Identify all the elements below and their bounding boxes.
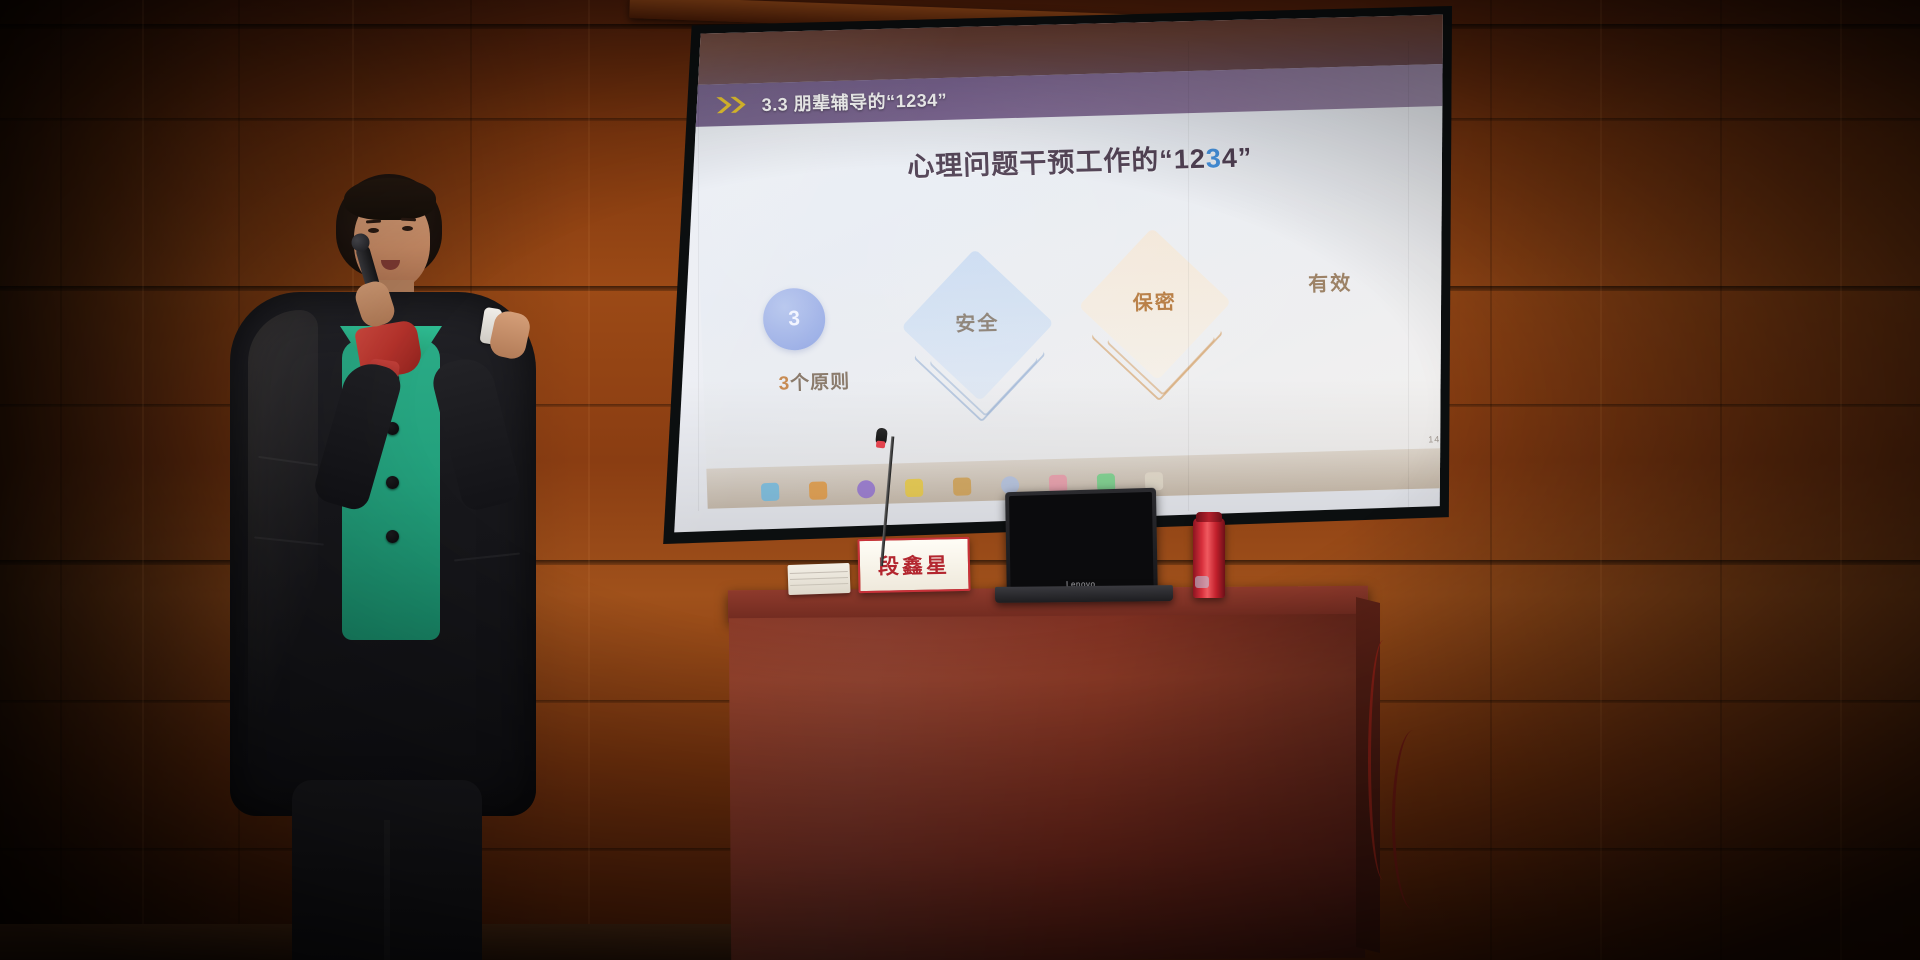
app-icon-3[interactable] [857,480,876,498]
slide-item-safety: 安全 [922,270,1034,381]
wall-grain [1600,0,1602,960]
slide-item-label-safety: 安全 [923,306,1032,338]
speaker-person [218,160,548,960]
thermos-label-band [1195,576,1209,588]
double-chevron-right-icon [715,94,750,115]
wall-grain [1490,0,1492,960]
paper-stack [787,563,850,595]
principles-word: 个原则 [790,372,851,395]
slide-item-label-effectiveness: 有效 [1276,266,1385,298]
number-badge-value: 3 [788,307,801,331]
speaker-name-card: 段鑫星 [857,537,970,593]
wall-grain [60,0,62,960]
speaker-eye-left [368,228,379,233]
red-thermos-bottle [1193,518,1225,598]
slide-title-suffix: 4” [1221,142,1253,173]
slide-viewport: 3.3 朋辈辅导的“1234” 心理问题干预工作的“1234” 3 3个原则 [668,11,1446,536]
slide-header-text: 3.3 朋辈辅导的“1234” [761,86,947,117]
wall-grain [588,0,590,960]
wall-grain [1840,0,1842,960]
slide-title-prefix: 心理问题干预工作的“12 [907,144,1206,182]
speaker-leg-divide [384,820,390,960]
speaker-eye-right [402,226,413,231]
app-icon-2[interactable] [809,481,828,499]
slide-title-highlight: 3 [1205,143,1222,173]
laptop-screen: Lenovo [1005,488,1158,593]
app-icon-1[interactable] [761,483,780,501]
number-badge-circle: 3 [762,287,826,351]
presentation-slide: 3.3 朋辈辅导的“1234” 心理问题干预工作的“1234” 3 3个原则 [690,11,1446,509]
slide-title: 心理问题干预工作的“1234” [695,129,1446,189]
desk-front-panel [729,614,1365,960]
wall-grain [142,0,144,960]
wall-grain [1720,0,1722,960]
vest-button-4 [386,530,399,543]
vest-button-3 [386,476,399,489]
laptop-keyboard-base [995,585,1173,603]
app-icon-5[interactable] [953,477,972,495]
power-cable-2 [1392,730,1435,910]
app-icon-4[interactable] [905,479,924,497]
speaker-hair-fringe [344,178,436,220]
speaker-name: 段鑫星 [878,549,951,581]
slide-item-label-confidentiality: 保密 [1100,285,1209,317]
slide-item-effectiveness: 有效 [1274,230,1386,341]
thermos-cap [1196,512,1222,522]
slide-body: 心理问题干预工作的“1234” 3 3个原则 安全 [694,105,1446,508]
laptop-bezel [1009,492,1154,589]
slide-item-label-principles: 3个原则 [749,366,880,397]
slide-item-confidentiality: 保密 [1099,249,1211,360]
slide-items-row: 3 3个原则 安全 [698,213,1446,464]
lecture-hall-scene: 3.3 朋辈辅导的“1234” 心理问题干预工作的“1234” 3 3个原则 [0,0,1920,960]
principles-count: 3 [778,373,790,394]
